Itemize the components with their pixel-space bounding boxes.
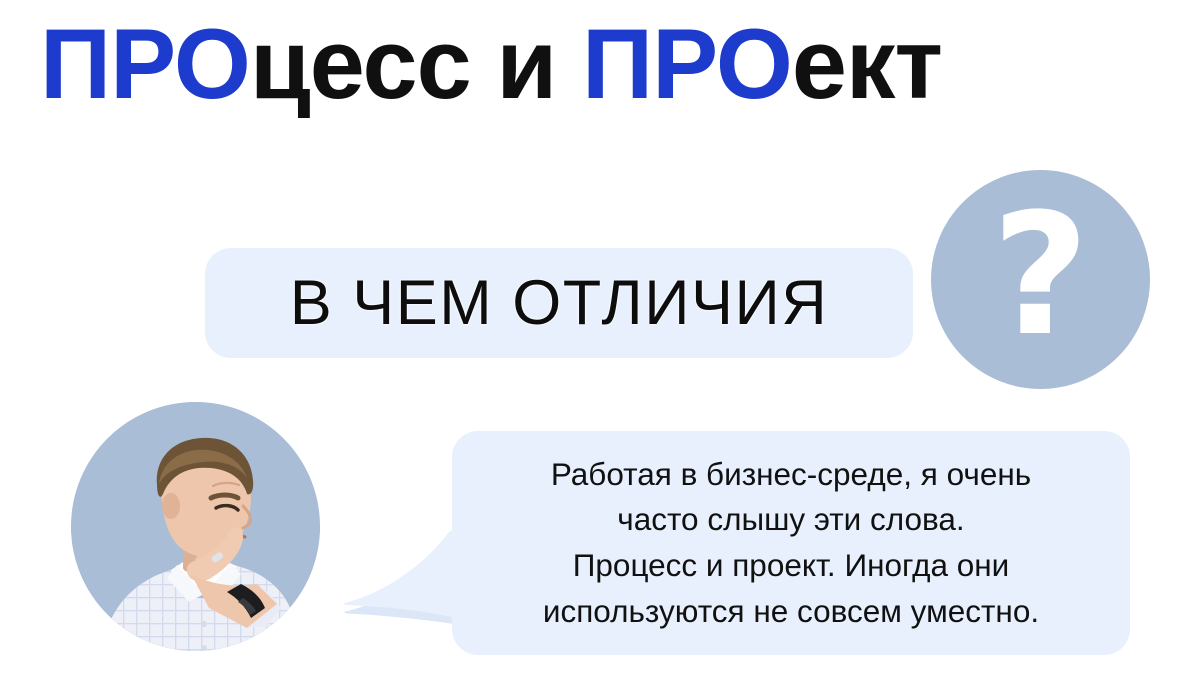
title-part-ekt: ект	[792, 14, 942, 113]
headline-text: В ЧЕМ ОТЛИЧИЯ	[290, 267, 829, 339]
headline-pill: В ЧЕМ ОТЛИЧИЯ	[205, 248, 913, 358]
title-part-cess: цесс	[250, 14, 471, 113]
person-thinking-avatar-illustration	[71, 402, 320, 651]
avatar	[71, 402, 320, 651]
question-mark-icon: ?	[931, 170, 1150, 389]
speech-bubble-tail	[336, 520, 466, 632]
title-part-i: и	[496, 14, 556, 113]
page-title: ПРОцессиПРОект	[40, 6, 1170, 121]
body-speech-text: Работая в бизнес-среде, я очень часто сл…	[521, 452, 1061, 635]
body-speech-bubble: Работая в бизнес-среде, я очень часто сл…	[452, 431, 1130, 655]
title-part-pro-2: ПРО	[582, 14, 792, 113]
slide-canvas: ПРОцессиПРОект ? В ЧЕМ ОТЛИЧИЯ	[0, 0, 1200, 675]
question-badge: ?	[931, 170, 1150, 389]
title-part-pro-1: ПРО	[40, 14, 250, 113]
